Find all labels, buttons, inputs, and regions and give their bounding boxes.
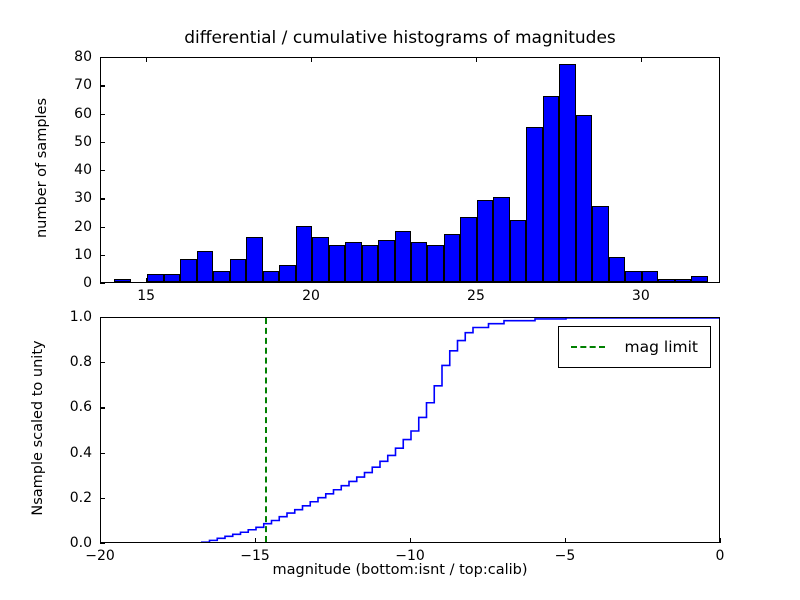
histogram-bar (362, 245, 378, 282)
histogram-ytick (100, 170, 105, 171)
figure-canvas: differential / cumulative histograms of … (0, 0, 800, 600)
histogram-bar (114, 279, 130, 282)
histogram-bar (312, 237, 328, 282)
histogram-bar (230, 259, 246, 282)
histogram-plot-area (101, 58, 719, 282)
cumulative-ylabel: Nsample scaled to unity (30, 315, 46, 541)
histogram-bar (510, 220, 526, 282)
histogram-ytick (100, 227, 105, 228)
histogram-bar (395, 231, 411, 282)
cumulative-xtick (100, 538, 101, 543)
histogram-ytick (100, 57, 105, 58)
histogram-bar (279, 265, 295, 282)
histogram-bar (691, 276, 707, 282)
histogram-bar (197, 251, 213, 282)
histogram-ytick-label: 60 (52, 106, 92, 122)
cumulative-ytick-label: 1.0 (48, 309, 92, 325)
legend: mag limit (558, 326, 711, 368)
histogram-bar (543, 96, 559, 282)
histogram-xtick-top (311, 57, 312, 62)
histogram-xtick-top (641, 57, 642, 62)
figure-title: differential / cumulative histograms of … (0, 28, 800, 48)
histogram-bar (345, 242, 361, 282)
histogram-bar (559, 64, 575, 282)
histogram-ytick-label: 10 (52, 247, 92, 263)
histogram-ytick-label: 0 (52, 275, 92, 291)
figure-xlabel: magnitude (bottom:isnt / top:calib) (0, 562, 800, 578)
histogram-bar (329, 245, 345, 282)
histogram-ytick (100, 85, 105, 86)
histogram-bar (477, 200, 493, 282)
histogram-bar (164, 274, 180, 282)
histogram-xtick-top (476, 57, 477, 62)
cumulative-xtick (410, 538, 411, 543)
histogram-bar (246, 237, 262, 282)
histogram-bar (609, 257, 625, 282)
histogram-axes (100, 57, 720, 283)
cumulative-xtick (255, 538, 256, 543)
cumulative-ytick (100, 498, 105, 499)
histogram-bar (642, 271, 658, 282)
histogram-ytick (100, 142, 105, 143)
cumulative-axes: mag limit (100, 317, 720, 543)
histogram-bar (213, 271, 229, 282)
histogram-bar (460, 217, 476, 282)
histogram-xtick (146, 278, 147, 283)
cumulative-ytick-label: 0.2 (48, 490, 92, 506)
histogram-ytick (100, 114, 105, 115)
histogram-xtick (476, 278, 477, 283)
cumulative-ytick-label: 0.4 (48, 445, 92, 461)
histogram-bar (658, 279, 674, 282)
histogram-bar (296, 226, 312, 283)
histogram-bar (592, 206, 608, 282)
histogram-bar (576, 115, 592, 282)
histogram-bar (444, 234, 460, 282)
histogram-ytick-label: 70 (52, 77, 92, 93)
cumulative-ytick (100, 317, 105, 318)
cumulative-ytick (100, 453, 105, 454)
histogram-xtick-label: 25 (467, 288, 485, 304)
histogram-ytick-label: 50 (52, 134, 92, 150)
mag-limit-line (265, 318, 267, 542)
histogram-bar (427, 245, 443, 282)
histogram-ytick (100, 255, 105, 256)
histogram-ytick (100, 198, 105, 199)
histogram-xtick-label: 30 (632, 288, 650, 304)
histogram-ytick-label: 20 (52, 219, 92, 235)
histogram-bar (263, 271, 279, 282)
histogram-ytick-label: 30 (52, 190, 92, 206)
cumulative-xtick (720, 538, 721, 543)
cumulative-ytick (100, 362, 105, 363)
histogram-ytick-label: 80 (52, 49, 92, 65)
histogram-bar (147, 274, 163, 282)
cumulative-ytick (100, 543, 105, 544)
histogram-xtick-label: 20 (302, 288, 320, 304)
histogram-bar (625, 271, 641, 282)
histogram-xtick (311, 278, 312, 283)
histogram-xtick-top (146, 57, 147, 62)
histogram-bar (493, 197, 509, 282)
histogram-bar (378, 240, 394, 282)
cumulative-ytick-label: 0.6 (48, 399, 92, 415)
cumulative-ytick-label: 0.8 (48, 354, 92, 370)
histogram-bar (675, 279, 691, 282)
histogram-bar (180, 259, 196, 282)
mag-limit-swatch-icon (571, 346, 605, 348)
legend-label-mag-limit: mag limit (625, 338, 698, 356)
histogram-ytick (100, 283, 105, 284)
histogram-bar (411, 242, 427, 282)
cumulative-ytick (100, 407, 105, 408)
histogram-ytick-label: 40 (52, 162, 92, 178)
histogram-xtick-label: 15 (137, 288, 155, 304)
histogram-ylabel: number of samples (34, 55, 50, 281)
histogram-bar (526, 127, 542, 282)
cumulative-xtick (565, 538, 566, 543)
histogram-xtick (641, 278, 642, 283)
